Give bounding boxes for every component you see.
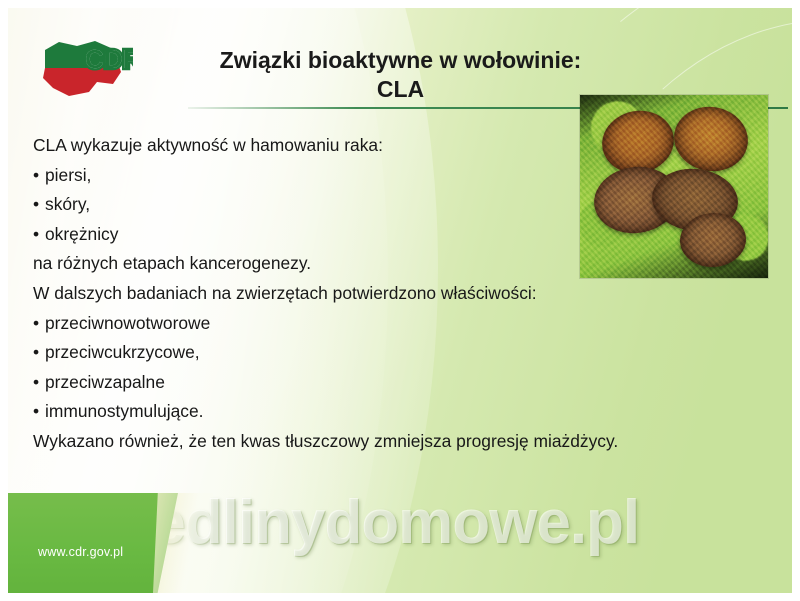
- body-line: przeciwcukrzycowe,: [33, 338, 673, 368]
- body-line: immunostymulujące.: [33, 397, 673, 427]
- body-line: piersi,: [33, 161, 673, 191]
- footer-url: www.cdr.gov.pl: [38, 545, 123, 559]
- footer-wedge-highlight: [153, 493, 213, 593]
- body-line: przeciwzapalne: [33, 368, 673, 398]
- slide-canvas: CDR CDR Związki bioaktywne w wołowinie: …: [8, 8, 792, 593]
- slide-title: Związki bioaktywne w wołowinie: CLA: [158, 46, 643, 104]
- body-line: Wykazano również, że ten kwas tłuszczowy…: [33, 427, 673, 457]
- slide-title-line-2: CLA: [158, 75, 643, 104]
- body-line: na różnych etapach kancerogenezy.: [33, 249, 673, 279]
- body-line: okrężnicy: [33, 220, 673, 250]
- body-line: W dalszych badaniach na zwierzętach potw…: [33, 279, 673, 309]
- slide-root: CDR CDR Związki bioaktywne w wołowinie: …: [0, 0, 800, 601]
- cdr-logo: CDR CDR: [37, 38, 133, 100]
- slide-title-line-1: Związki bioaktywne w wołowinie:: [158, 46, 643, 75]
- svg-text:CDR: CDR: [85, 44, 133, 74]
- body-line: skóry,: [33, 190, 673, 220]
- slide-body: CLA wykazuje aktywność w hamowaniu raka:…: [33, 131, 673, 457]
- footer-green-wedge: [8, 493, 178, 593]
- body-line: CLA wykazuje aktywność w hamowaniu raka:: [33, 131, 673, 161]
- body-line: przeciwnowotworowe: [33, 309, 673, 339]
